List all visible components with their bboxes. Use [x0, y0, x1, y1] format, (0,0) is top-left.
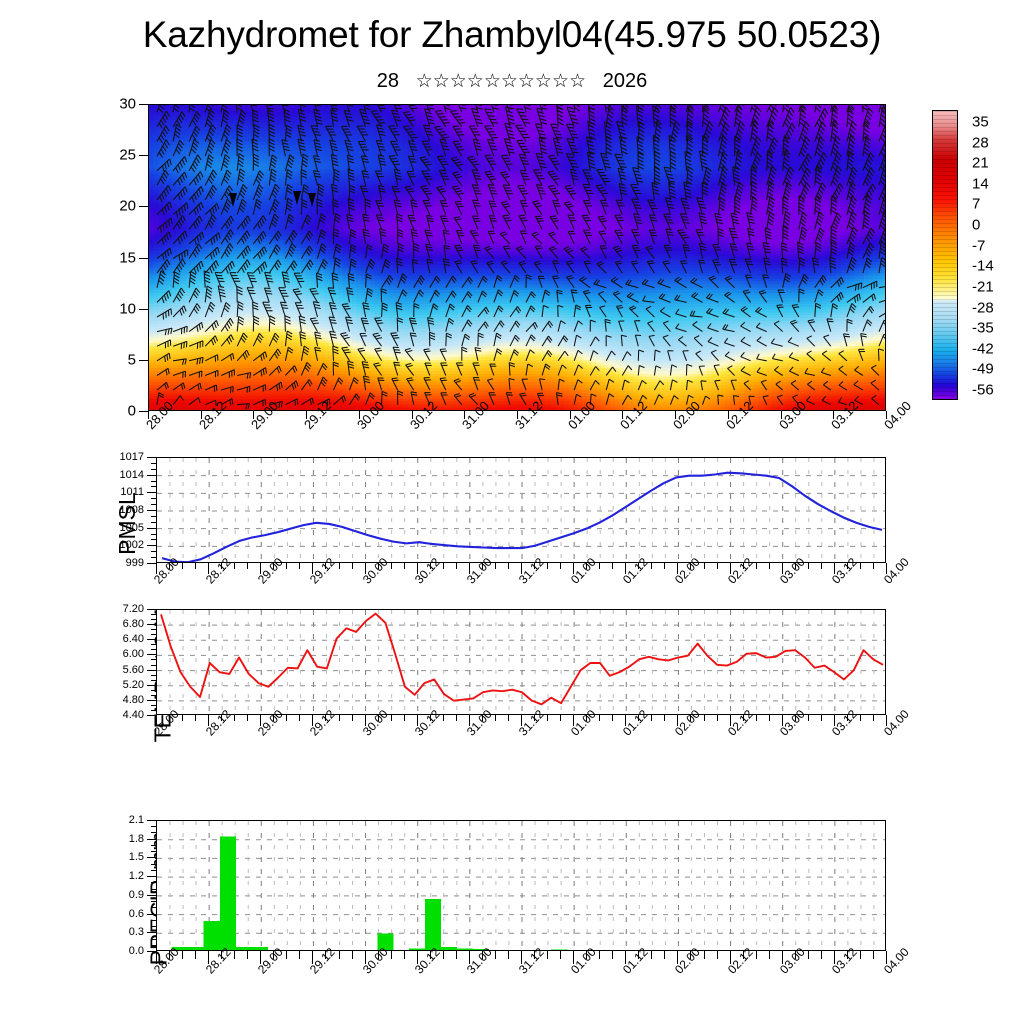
pmsl-y-tick-major [147, 545, 156, 546]
cross-y-tick-major [139, 360, 148, 361]
temp-x-tick-minor [339, 715, 340, 721]
pmsl-y-tick-label: 999 [126, 557, 144, 569]
precip-y-tick-major [147, 820, 156, 821]
temp-y-tick-minor [151, 680, 156, 681]
precip-y-tick-minor [151, 907, 156, 908]
precip-x-tick-minor [339, 951, 340, 959]
pmsl-y-tick-major [147, 492, 156, 493]
pmsl-x-tick-minor [860, 563, 861, 569]
precip-y-tick-label: 0.9 [129, 889, 144, 901]
pmsl-y-tick-major [147, 563, 156, 564]
temp-y-tick-major [147, 624, 156, 625]
precip-x-tick-minor [299, 951, 300, 959]
precip-x-tick-minor [495, 951, 496, 959]
pmsl-plot-area [156, 457, 886, 563]
pmsl-y-tick-minor [151, 498, 156, 499]
pmsl-x-tick-minor [299, 563, 300, 569]
precip-x-tick-minor [443, 951, 444, 959]
pmsl-x-tick-minor [286, 563, 287, 569]
cross-y-tick-major [139, 309, 148, 310]
precip-x-tick-minor [769, 951, 770, 959]
precip-y-tick-minor [151, 826, 156, 827]
temp-x-tick-minor [286, 715, 287, 721]
colorbar[interactable] [932, 110, 958, 400]
temp-x-tick-minor [821, 715, 822, 721]
temp-y-tick-major [147, 700, 156, 701]
pmsl-panel[interactable] [156, 457, 886, 563]
pmsl-y-tick-major [147, 528, 156, 529]
precip-x-tick-minor [195, 951, 196, 959]
cross-y-tick-label: 15 [119, 249, 136, 266]
pmsl-x-tick-minor [664, 563, 665, 569]
temp-y-tick-major [147, 715, 156, 716]
colorbar-tick-label: -56 [972, 382, 994, 399]
colorbar-tick-label: -28 [972, 299, 994, 316]
pmsl-x-tick-minor [247, 563, 248, 569]
pmsl-y-tick-label: 1005 [120, 522, 144, 534]
pmsl-x-tick-minor [404, 563, 405, 569]
pmsl-y-tick-major [147, 510, 156, 511]
temp-x-tick-minor [651, 715, 652, 721]
precip-x-tick-minor [860, 951, 861, 959]
temp-y-tick-major [147, 670, 156, 671]
temp-y-tick-minor [151, 614, 156, 615]
precip-plot-area [156, 820, 886, 951]
temp-y-tick-label: 6.80 [123, 618, 144, 630]
cross-y-tick-major [139, 206, 148, 207]
pmsl-x-tick-minor [456, 563, 457, 569]
pmsl-y-tick-label: 1011 [120, 486, 144, 498]
pmsl-y-tick-minor [151, 522, 156, 523]
cross-y-tick-label: 10 [119, 300, 136, 317]
subtitle-month-glyphs: ☆☆☆☆☆☆☆☆☆☆ [416, 71, 586, 92]
precip-y-tick-label: 1.8 [129, 833, 144, 845]
precip-y-tick-major [147, 932, 156, 933]
temp-y-tick-minor [151, 675, 156, 676]
precip-x-tick-minor [873, 951, 874, 959]
temp-y-tick-minor [151, 705, 156, 706]
cross-y-tick-label: 5 [128, 351, 136, 368]
cross-y-tick-label: 20 [119, 198, 136, 215]
pmsl-x-tick-minor [612, 563, 613, 569]
precip-x-tick-minor [182, 951, 183, 959]
pmsl-x-tick-minor [873, 563, 874, 569]
temp-y-tick-minor [151, 659, 156, 660]
pmsl-x-tick-minor [195, 563, 196, 569]
precip-y-tick-minor [151, 939, 156, 940]
temp-x-tick-minor [664, 715, 665, 721]
pmsl-y-tick-minor [151, 504, 156, 505]
precip-y-tick-major [147, 876, 156, 877]
pmsl-x-tick-minor [651, 563, 652, 569]
subtitle-date: 28 ☆☆☆☆☆☆☆☆☆☆ 2026 [0, 70, 1024, 93]
precip-y-tick-minor [151, 926, 156, 927]
precip-y-tick-minor [151, 945, 156, 946]
cross-y-tick-label: 25 [119, 147, 136, 164]
temp-y-tick-label: 6.40 [123, 633, 144, 645]
precip-x-tick-minor [756, 951, 757, 959]
pmsl-y-tick-minor [151, 481, 156, 482]
precip-x-tick-minor [560, 951, 561, 959]
cross-y-tick-major [139, 411, 148, 412]
precip-x-tick-minor [456, 951, 457, 959]
colorbar-tick-label: -42 [972, 340, 994, 357]
temp-y-tick-minor [151, 710, 156, 711]
pmsl-x-tick-minor [352, 563, 353, 569]
precip-y-tick-minor [151, 870, 156, 871]
temp-y-tick-minor [151, 695, 156, 696]
precip-x-tick-minor [247, 951, 248, 959]
colorbar-tick-label: -49 [972, 361, 994, 378]
precip-x-tick-minor [599, 951, 600, 959]
temp-y-tick-minor [151, 665, 156, 666]
precip-x-tick-minor [821, 951, 822, 959]
temp-y-tick-minor [151, 629, 156, 630]
colorbar-tick-label: 35 [972, 114, 989, 131]
cross-y-tick-major [139, 258, 148, 259]
temp-y-tick-major [147, 685, 156, 686]
precip-y-tick-label: 0.6 [129, 908, 144, 920]
temp-y-tick-label: 6.00 [123, 648, 144, 660]
temp-x-tick-minor [769, 715, 770, 721]
precip-x-tick-minor [508, 951, 509, 959]
precip-x-tick-minor [651, 951, 652, 959]
precip-x-tick-minor [234, 951, 235, 959]
colorbar-tick-label: 14 [972, 175, 989, 192]
temp-series [157, 610, 886, 715]
temp-y-tick-major [147, 639, 156, 640]
precip-x-tick-minor [547, 951, 548, 959]
pmsl-y-tick-minor [151, 463, 156, 464]
precip-y-tick-major [147, 951, 156, 952]
precip-y-tick-label: 0.0 [129, 945, 144, 957]
temp-x-tick-minor [195, 715, 196, 721]
pmsl-x-tick-minor [508, 563, 509, 569]
page-title: Kazhydromet for Zhambyl04(45.975 50.0523… [0, 14, 1024, 56]
pmsl-y-tick-label: 1014 [120, 469, 144, 481]
precip-x-tick-minor [808, 951, 809, 959]
temp-x-tick-minor [873, 715, 874, 721]
cross-section-plot-area [148, 104, 886, 411]
colorbar-tick-label: -21 [972, 278, 994, 295]
colorbar-tick-label: 0 [972, 217, 980, 234]
colorbar-tick-label: -7 [972, 237, 985, 254]
precip-x-tick-minor [286, 951, 287, 959]
cross-y-tick-label: 0 [128, 403, 136, 420]
temp-x-tick-minor [456, 715, 457, 721]
pmsl-y-tick-minor [151, 539, 156, 540]
precip-panel[interactable] [156, 820, 886, 951]
temp-plot-area [156, 609, 886, 715]
precip-y-tick-label: 1.2 [129, 870, 144, 882]
temp-y-tick-label: 7.20 [123, 603, 144, 615]
subtitle-day: 28 [377, 70, 399, 92]
precip-y-tick-major [147, 857, 156, 858]
temp-x-tick-minor [495, 715, 496, 721]
precip-x-tick-minor [717, 951, 718, 959]
precip-y-tick-major [147, 839, 156, 840]
precip-y-tick-label: 1.5 [129, 851, 144, 863]
temp-y-tick-minor [151, 619, 156, 620]
temp-x-tick-minor [704, 715, 705, 721]
temp-x-tick-minor [717, 715, 718, 721]
precip-x-tick-minor [612, 951, 613, 959]
precip-y-tick-minor [151, 832, 156, 833]
precip-y-tick-minor [151, 889, 156, 890]
pmsl-x-tick-minor [234, 563, 235, 569]
precip-x-tick-minor [352, 951, 353, 959]
cross-y-tick-label: 30 [119, 96, 136, 113]
colorbar-tick-label: -14 [972, 258, 994, 275]
precip-y-tick-minor [151, 901, 156, 902]
precip-y-tick-major [147, 914, 156, 915]
temp-panel[interactable] [156, 609, 886, 715]
precip-series [157, 821, 886, 951]
temp-y-tick-minor [151, 649, 156, 650]
pmsl-x-tick-minor [599, 563, 600, 569]
precip-x-tick-minor [391, 951, 392, 959]
pmsl-x-tick-minor [547, 563, 548, 569]
precip-y-tick-minor [151, 864, 156, 865]
temp-x-tick-minor [547, 715, 548, 721]
precip-y-tick-minor [151, 851, 156, 852]
precip-y-tick-minor [151, 882, 156, 883]
temp-y-tick-minor [151, 690, 156, 691]
pmsl-x-tick-minor [495, 563, 496, 569]
pmsl-x-tick-minor [182, 563, 183, 569]
colorbar-tick-label: -35 [972, 320, 994, 337]
cross-y-tick-major [139, 155, 148, 156]
colorbar-banding [933, 111, 957, 399]
temp-x-tick-minor [299, 715, 300, 721]
cross-section-canvas [149, 105, 886, 411]
temp-x-tick-minor [612, 715, 613, 721]
precip-y-tick-minor [151, 845, 156, 846]
temp-x-tick-minor [182, 715, 183, 721]
precip-x-tick-minor [704, 951, 705, 959]
temp-x-tick-minor [860, 715, 861, 721]
pmsl-series [157, 458, 886, 563]
temp-y-tick-major [147, 654, 156, 655]
colorbar-tick-label: 7 [972, 196, 980, 213]
temp-x-tick-minor [234, 715, 235, 721]
temp-x-tick-minor [247, 715, 248, 721]
pmsl-y-tick-label: 1002 [120, 539, 144, 551]
temp-y-tick-label: 5.20 [123, 679, 144, 691]
pmsl-y-tick-major [147, 475, 156, 476]
temp-y-tick-minor [151, 634, 156, 635]
cross-section-panel[interactable] [148, 104, 886, 411]
precip-y-tick-label: 2.1 [129, 814, 144, 826]
pmsl-y-tick-minor [151, 486, 156, 487]
precip-y-tick-minor [151, 920, 156, 921]
temp-x-tick-minor [404, 715, 405, 721]
subtitle-year: 2026 [603, 70, 648, 92]
precip-x-tick-minor [664, 951, 665, 959]
pmsl-y-tick-minor [151, 469, 156, 470]
pmsl-x-tick-minor [769, 563, 770, 569]
cross-y-tick-major [139, 104, 148, 105]
pmsl-x-tick-minor [339, 563, 340, 569]
pmsl-x-tick-minor [704, 563, 705, 569]
precip-y-tick-label: 0.3 [129, 926, 144, 938]
pmsl-y-tick-label: 1008 [120, 504, 144, 516]
temp-y-tick-minor [151, 644, 156, 645]
temp-x-tick-minor [599, 715, 600, 721]
precip-x-tick-minor [404, 951, 405, 959]
pmsl-y-tick-minor [151, 534, 156, 535]
temp-x-tick-minor [508, 715, 509, 721]
colorbar-tick-label: 28 [972, 134, 989, 151]
pmsl-y-tick-minor [151, 557, 156, 558]
temp-x-tick-minor [560, 715, 561, 721]
pmsl-y-tick-major [147, 457, 156, 458]
pmsl-x-tick-minor [821, 563, 822, 569]
temp-y-tick-major [147, 609, 156, 610]
pmsl-y-tick-minor [151, 516, 156, 517]
precip-y-tick-major [147, 895, 156, 896]
pmsl-y-tick-label: 1017 [120, 451, 144, 463]
pmsl-x-tick-minor [717, 563, 718, 569]
temp-y-tick-label: 4.40 [123, 709, 144, 721]
colorbar-tick-label: 21 [972, 155, 989, 172]
temp-y-tick-label: 4.80 [123, 694, 144, 706]
temp-x-tick-minor [352, 715, 353, 721]
temp-y-tick-label: 5.60 [123, 664, 144, 676]
pmsl-y-tick-minor [151, 551, 156, 552]
pmsl-x-tick-minor [560, 563, 561, 569]
